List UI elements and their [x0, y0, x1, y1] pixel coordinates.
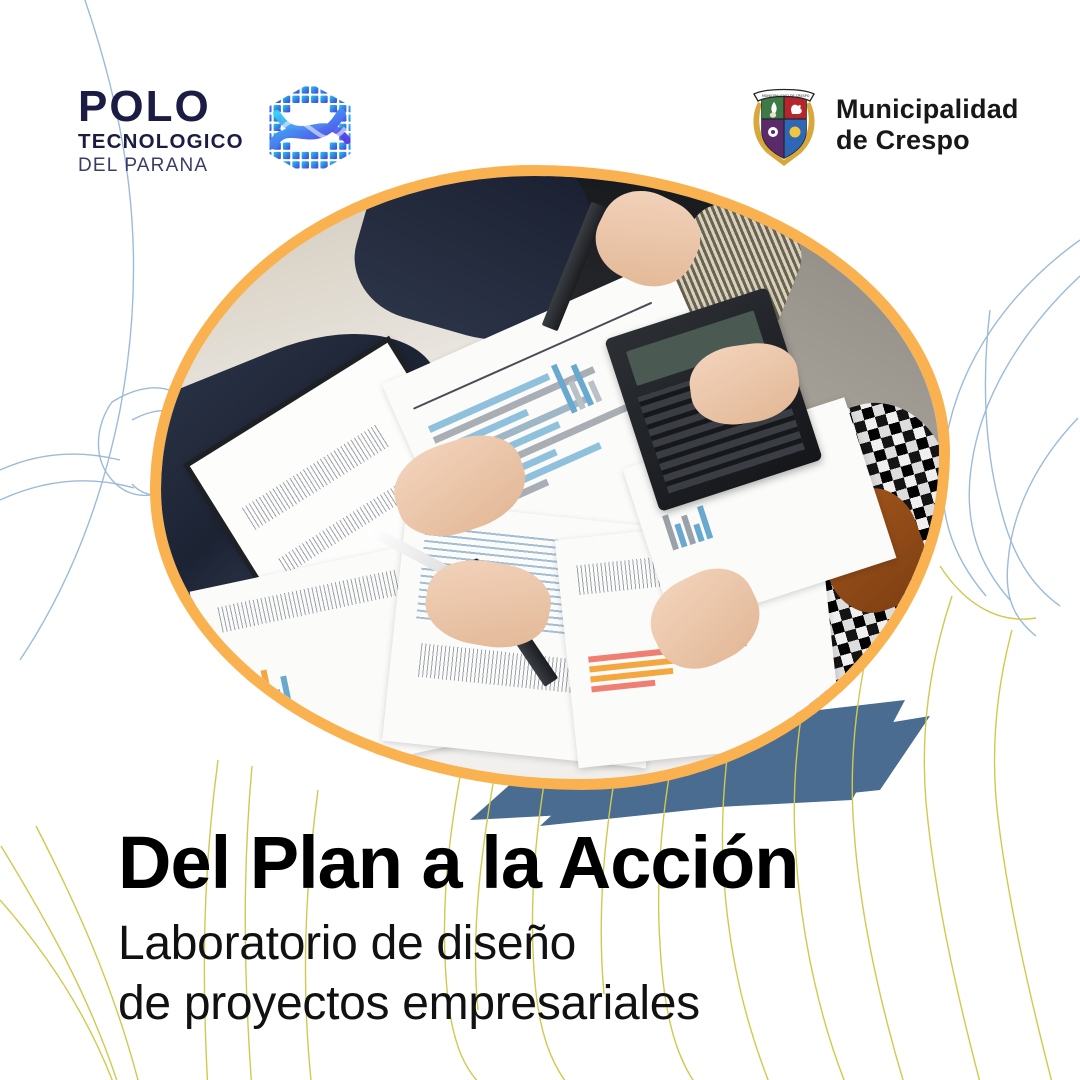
photo-blob-frame	[150, 165, 950, 790]
page-subtitle-line2: de proyectos empresariales	[118, 974, 799, 1034]
polo-logo-line1: POLO	[78, 85, 244, 129]
poster-canvas: POLO TECNOLOGICO DEL PARANA	[0, 0, 1080, 1080]
page-subtitle: Laboratorio de diseño de proyectos empre…	[118, 914, 799, 1033]
municipalidad-wordmark: Municipalidad de Crespo	[836, 94, 1019, 157]
business-meeting-charts-photo	[161, 176, 939, 779]
headline-block: Del Plan a la Acción Laboratorio de dise…	[118, 826, 799, 1033]
svg-text:MUNICIPALIDAD DE CRESPO: MUNICIPALIDAD DE CRESPO	[762, 94, 810, 98]
polo-logo-wordmark: POLO TECNOLOGICO DEL PARANA	[78, 85, 244, 175]
municipalidad-de-crespo-logo: MUNICIPALIDAD DE CRESPO Municipalidad de…	[748, 82, 1019, 168]
municipalidad-line2: de Crespo	[836, 125, 1019, 156]
polo-logo-line2: TECNOLOGICO	[78, 132, 244, 153]
municipalidad-line1: Municipalidad	[836, 94, 1019, 125]
page-subtitle-line1: Laboratorio de diseño	[118, 914, 799, 974]
photo-scene	[161, 176, 939, 779]
page-title: Del Plan a la Acción	[118, 826, 799, 900]
coat-of-arms-shield-icon: MUNICIPALIDAD DE CRESPO	[748, 82, 820, 168]
paper-left-bars	[231, 652, 292, 715]
